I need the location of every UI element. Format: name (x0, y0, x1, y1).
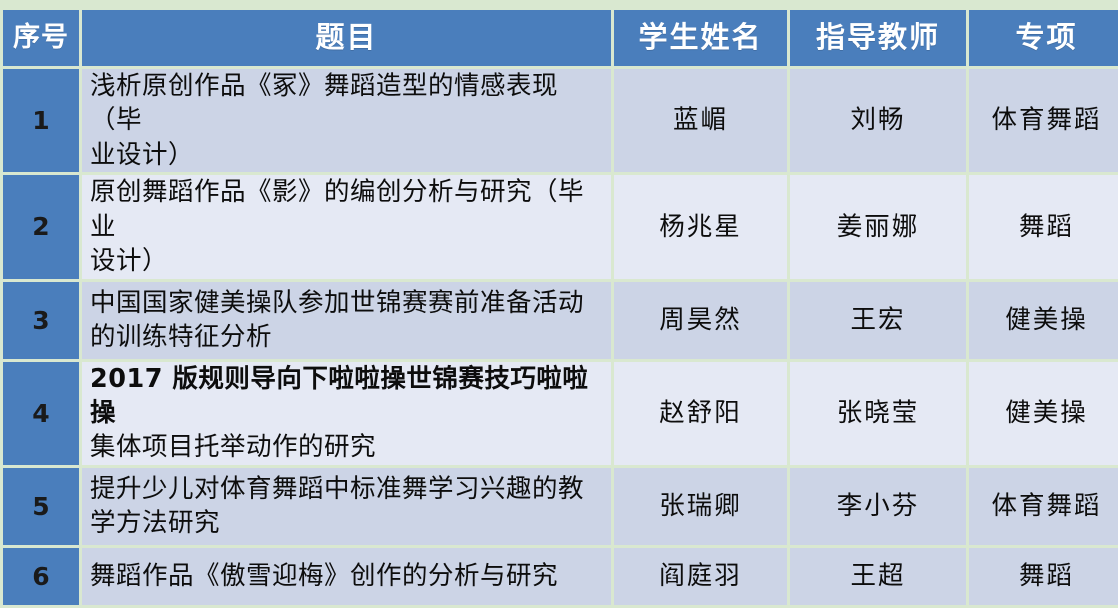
table-header: 序号 题目 学生姓名 指导教师 专项 (3, 10, 1118, 66)
cell-title-line2: 的训练特征分析 (90, 320, 607, 354)
cell-student: 阎庭羽 (614, 548, 787, 605)
cell-title-line2: 业设计） (90, 138, 607, 172)
cell-title-line1: 中国国家健美操队参加世锦赛赛前准备活动 (90, 286, 607, 320)
cell-title-line2: 集体项目托举动作的研究 (90, 430, 607, 464)
column-header-specialty: 专项 (969, 10, 1118, 66)
cell-student: 张瑞卿 (614, 468, 787, 545)
cell-advisor: 张晓莹 (790, 362, 966, 465)
cell-title-line2: 设计） (90, 244, 607, 278)
cell-title-line1: 提升少儿对体育舞蹈中标准舞学习兴趣的教 (90, 472, 607, 506)
cell-specialty: 舞蹈 (969, 175, 1118, 278)
table-row: 5 提升少儿对体育舞蹈中标准舞学习兴趣的教 学方法研究 张瑞卿 李小芬 体育舞蹈 (3, 468, 1118, 545)
cell-advisor: 姜丽娜 (790, 175, 966, 278)
cell-specialty: 健美操 (969, 282, 1118, 359)
cell-title-line1: 浅析原创作品《冢》舞蹈造型的情感表现（毕 (90, 69, 607, 138)
cell-seq: 2 (3, 175, 79, 278)
table-row: 2 原创舞蹈作品《影》的编创分析与研究（毕业 设计） 杨兆星 姜丽娜 舞蹈 (3, 175, 1118, 278)
column-header-student: 学生姓名 (614, 10, 787, 66)
cell-student: 周昊然 (614, 282, 787, 359)
cell-student: 蓝嵋 (614, 69, 787, 172)
cell-student: 杨兆星 (614, 175, 787, 278)
cell-title: 浅析原创作品《冢》舞蹈造型的情感表现（毕 业设计） (82, 69, 611, 172)
cell-title-line1: 2017 版规则导向下啦啦操世锦赛技巧啦啦操 (90, 362, 607, 431)
cell-title: 舞蹈作品《傲雪迎梅》创作的分析与研究 (82, 548, 611, 605)
cell-seq: 1 (3, 69, 79, 172)
cell-title: 原创舞蹈作品《影》的编创分析与研究（毕业 设计） (82, 175, 611, 278)
table-row: 1 浅析原创作品《冢》舞蹈造型的情感表现（毕 业设计） 蓝嵋 刘畅 体育舞蹈 (3, 69, 1118, 172)
cell-title-line1: 原创舞蹈作品《影》的编创分析与研究（毕业 (90, 175, 607, 244)
cell-title: 提升少儿对体育舞蹈中标准舞学习兴趣的教 学方法研究 (82, 468, 611, 545)
cell-title-line2: 学方法研究 (90, 506, 607, 540)
cell-seq: 6 (3, 548, 79, 605)
cell-specialty: 健美操 (969, 362, 1118, 465)
table-body: 1 浅析原创作品《冢》舞蹈造型的情感表现（毕 业设计） 蓝嵋 刘畅 体育舞蹈 2… (3, 69, 1118, 605)
cell-advisor: 王宏 (790, 282, 966, 359)
cell-specialty: 舞蹈 (969, 548, 1118, 605)
column-header-seq: 序号 (3, 10, 79, 66)
table-page: 序号 题目 学生姓名 指导教师 专项 1 浅析原创作品《冢》舞蹈造型的情感表现（… (0, 0, 1118, 535)
table-row: 3 中国国家健美操队参加世锦赛赛前准备活动 的训练特征分析 周昊然 王宏 健美操 (3, 282, 1118, 359)
cell-seq: 3 (3, 282, 79, 359)
cell-advisor: 李小芬 (790, 468, 966, 545)
table-row: 6 舞蹈作品《傲雪迎梅》创作的分析与研究 阎庭羽 王超 舞蹈 (3, 548, 1118, 605)
cell-seq: 5 (3, 468, 79, 545)
cell-specialty: 体育舞蹈 (969, 468, 1118, 545)
cell-student: 赵舒阳 (614, 362, 787, 465)
cell-advisor: 刘畅 (790, 69, 966, 172)
cell-seq: 4 (3, 362, 79, 465)
cell-title: 2017 版规则导向下啦啦操世锦赛技巧啦啦操 集体项目托举动作的研究 (82, 362, 611, 465)
thesis-topics-table: 序号 题目 学生姓名 指导教师 专项 1 浅析原创作品《冢》舞蹈造型的情感表现（… (0, 7, 1118, 608)
cell-title-line1: 舞蹈作品《傲雪迎梅》创作的分析与研究 (90, 559, 607, 593)
column-header-advisor: 指导教师 (790, 10, 966, 66)
cell-advisor: 王超 (790, 548, 966, 605)
table-header-row: 序号 题目 学生姓名 指导教师 专项 (3, 10, 1118, 66)
table-row: 4 2017 版规则导向下啦啦操世锦赛技巧啦啦操 集体项目托举动作的研究 赵舒阳… (3, 362, 1118, 465)
cell-title: 中国国家健美操队参加世锦赛赛前准备活动 的训练特征分析 (82, 282, 611, 359)
column-header-title: 题目 (82, 10, 611, 66)
cell-specialty: 体育舞蹈 (969, 69, 1118, 172)
